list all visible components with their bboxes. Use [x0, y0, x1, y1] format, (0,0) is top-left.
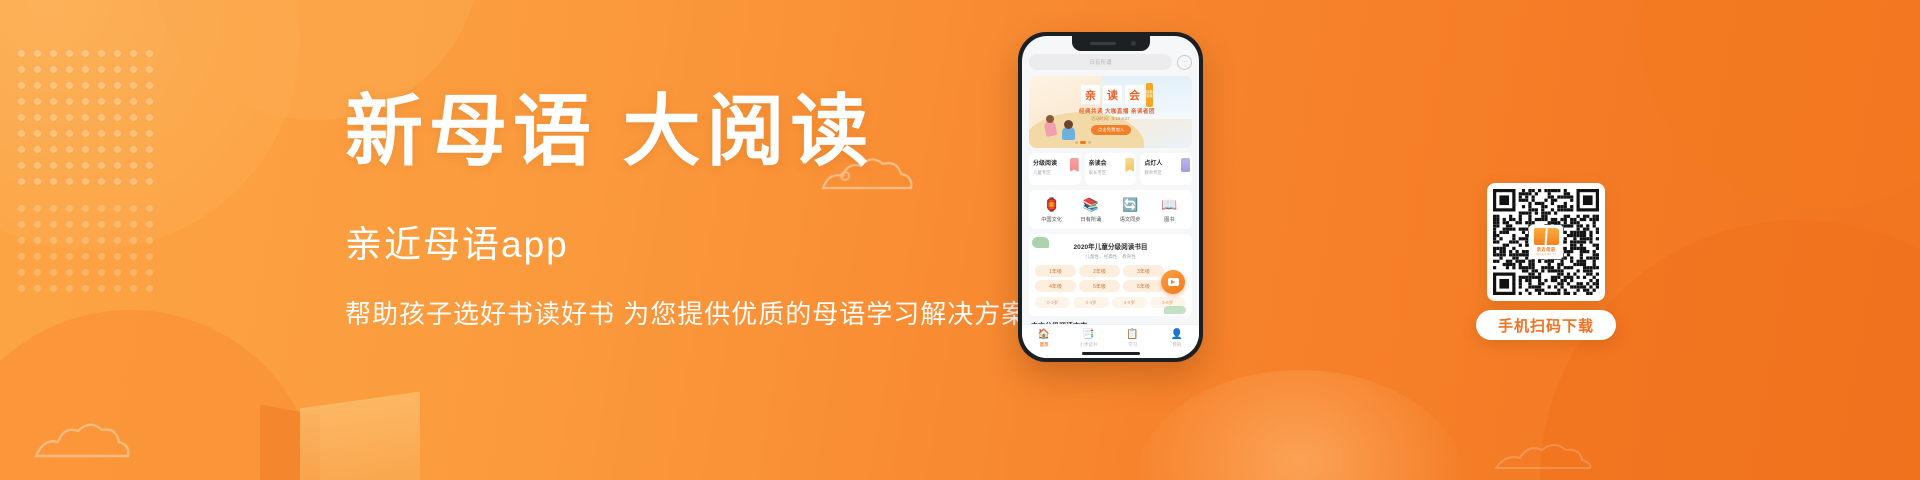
book-icon: 📖 — [1150, 197, 1189, 213]
banner-copy: 新母语 大阅读 亲近母语app 帮助孩子选好书读好书 为您提供优质的母语学习解决… — [345, 90, 1045, 331]
hero-subtitle: 经典共读 大咖直播 亲读者团 — [1079, 107, 1155, 115]
promo-banner: 新母语 大阅读 亲近母语app 帮助孩子选好书读好书 为您提供优质的母语学习解决… — [0, 0, 1920, 480]
qr-card: 亲近母语 QIN JIN MU YU — [1487, 183, 1605, 301]
decorative-cube — [300, 392, 420, 480]
quick-link-chinese-culture[interactable]: 🏮 中国文化 — [1032, 197, 1071, 223]
hero-banner[interactable]: 亲 读 会 经典阅读 经典共读 大咖直播 亲读者团 活动时间：9.16-9.27… — [1029, 76, 1192, 148]
quick-links-row: 🏮 中国文化 📚 日有所诵 🔄 语文同步 📖 图书 — [1029, 190, 1192, 229]
phone-notch — [1072, 36, 1150, 51]
grade-chip[interactable]: 6年级 — [1123, 280, 1164, 292]
play-icon[interactable] — [1161, 270, 1185, 294]
hero-char-2: 读 — [1103, 85, 1122, 104]
clipboard-icon: 📋 — [1111, 329, 1155, 341]
books-icon: 📚 — [1071, 197, 1110, 213]
app-screen: 日有所诵 ··· 亲 读 会 经典阅读 经典共读 大咖直播 亲读者团 活动时间：… — [1022, 36, 1199, 358]
document-icon: 📑 — [1066, 329, 1110, 341]
hero-title: 亲 读 会 — [1081, 85, 1144, 104]
banner-tagline: 帮助孩子选好书读好书 为您提供优质的母语学习解决方案 — [345, 294, 1045, 331]
download-button[interactable]: 手机扫码下载 — [1476, 310, 1616, 340]
bookmark-icon — [1181, 158, 1190, 172]
lantern-icon: 🏮 — [1032, 197, 1071, 213]
qr-code: 亲近母语 QIN JIN MU YU — [1493, 189, 1599, 295]
decorative-dot-grid-2 — [18, 205, 168, 315]
tab-study[interactable]: 📋 学习 — [1111, 329, 1155, 348]
hero-join-button[interactable]: 点击免费加入 — [1091, 125, 1131, 135]
decorative-circle-top-left — [0, 0, 300, 250]
qr-logo-pinyin: QIN JIN MU YU — [1536, 253, 1557, 256]
app-search-row: 日有所诵 ··· — [1029, 54, 1192, 70]
qr-section: 亲近母语 QIN JIN MU YU — [1487, 183, 1605, 301]
hero-date: 活动时间：9.16-9.27 — [1091, 116, 1130, 122]
decorative-dot-grid — [18, 50, 168, 200]
hero-vertical-label: 经典阅读 — [1146, 83, 1153, 107]
app-name: 亲近母语app — [345, 214, 1045, 268]
age-chip[interactable]: 4-5岁 — [1112, 297, 1147, 308]
decorative-circle-right — [1640, 0, 1920, 210]
grade-chip[interactable]: 2年级 — [1079, 265, 1120, 277]
age-chip[interactable]: 3-4岁 — [1073, 297, 1108, 308]
qr-center-logo: 亲近母语 QIN JIN MU YU — [1529, 225, 1563, 259]
home-icon: 🏠 — [1022, 329, 1066, 341]
grade-chip[interactable]: 3年级 — [1123, 265, 1164, 277]
tab-label: 首页 — [1022, 342, 1066, 348]
category-card-row: 分级阅读 儿童专区 亲读会 家长专区 点灯人 教师专区 — [1029, 153, 1192, 185]
tab-profile[interactable]: 👤 我的 — [1155, 329, 1199, 348]
leaf-icon — [1032, 237, 1049, 248]
quick-link-books[interactable]: 📖 图书 — [1150, 197, 1189, 223]
grade-chip[interactable]: 5年级 — [1079, 280, 1120, 292]
decorative-circle-bottom-left — [0, 310, 320, 480]
book-logo-icon — [1534, 228, 1559, 245]
age-chip-row: 0-3岁 3-4岁 4-5岁 5-6岁 — [1035, 297, 1186, 308]
carousel-dots[interactable] — [1075, 141, 1091, 144]
category-card-teacher[interactable]: 点灯人 教师专区 — [1140, 153, 1192, 185]
quick-link-label: 图书 — [1150, 216, 1189, 223]
sync-icon: 🔄 — [1111, 197, 1150, 213]
quick-link-sync[interactable]: 🔄 语文同步 — [1111, 197, 1150, 223]
home-indicator — [1082, 352, 1140, 355]
leaf-icon-2 — [1164, 306, 1186, 314]
category-card-parent-club[interactable]: 亲读会 家长专区 — [1085, 153, 1137, 185]
page-title: 新母语 大阅读 — [345, 90, 1045, 174]
hero-char-1: 亲 — [1081, 85, 1100, 104]
grade-chip[interactable]: 1年级 — [1035, 265, 1076, 277]
quick-link-daily-recite[interactable]: 📚 日有所诵 — [1071, 197, 1110, 223]
user-icon: 👤 — [1155, 329, 1199, 341]
grade-chip[interactable]: 4年级 — [1035, 280, 1076, 292]
decorative-glow — [1135, 370, 1465, 480]
tab-label: 我的 — [1155, 342, 1199, 348]
tab-label: 学习 — [1111, 342, 1155, 348]
category-card-graded-reading[interactable]: 分级阅读 儿童专区 — [1029, 153, 1081, 185]
booklist-subtitle: 儿童性、经典性、教育性 — [1035, 254, 1186, 260]
quick-link-label: 语文同步 — [1111, 216, 1150, 223]
decorative-cube-shadow — [260, 405, 320, 480]
booklist-section: 2020年儿童分级阅读书目 儿童性、经典性、教育性 1年级 2年级 3年级 4年… — [1029, 234, 1192, 316]
quick-link-label: 日有所诵 — [1071, 216, 1110, 223]
message-icon[interactable]: ··· — [1177, 55, 1192, 70]
tab-home[interactable]: 🏠 首页 — [1022, 329, 1066, 348]
booklist-title: 2020年儿童分级阅读书目 — [1035, 241, 1186, 251]
search-input[interactable]: 日有所诵 — [1029, 54, 1172, 70]
decorative-cloud-icon-2 — [30, 412, 150, 462]
quick-link-label: 中国文化 — [1032, 216, 1071, 223]
tab-label: 小步读书 — [1066, 342, 1110, 348]
decorative-cloud-icon-3 — [1490, 434, 1620, 474]
phone-mockup: 日有所诵 ··· 亲 读 会 经典阅读 经典共读 大咖直播 亲读者团 活动时间：… — [1018, 32, 1203, 362]
tab-reading[interactable]: 📑 小步读书 — [1066, 329, 1110, 348]
age-chip[interactable]: 0-3岁 — [1035, 297, 1070, 308]
hero-char-3: 会 — [1125, 85, 1144, 104]
